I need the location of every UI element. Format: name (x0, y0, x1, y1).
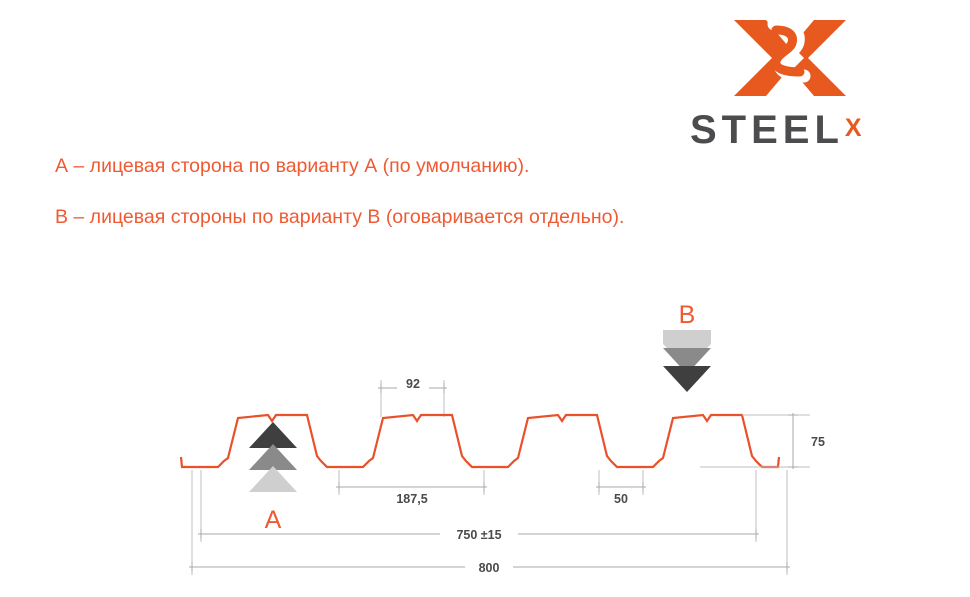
brand-wordmark: STEELX (690, 108, 920, 150)
spec-sheet: STEELX А – лицевая сторона по варианту А… (0, 0, 970, 597)
note-variant-b: В – лицевая стороны по варианту В (огова… (55, 206, 815, 229)
dim-label-75: 75 (811, 435, 825, 449)
marker-label-b: B (679, 301, 696, 329)
profile-drawing: B 92 A 187, (0, 280, 970, 597)
note-variant-a: А – лицевая сторона по варианту А (по ум… (55, 155, 815, 178)
chevron-down-stack-icon (663, 330, 711, 392)
wordmark-x: X (845, 116, 862, 141)
wordmark-steel: STEEL (690, 110, 844, 150)
brand-block: STEELX (690, 16, 920, 146)
dim-label-50: 50 (614, 492, 628, 506)
steelx-x-logo-icon (730, 16, 850, 100)
dim-label-92: 92 (406, 377, 420, 391)
dim-label-1875: 187,5 (396, 492, 427, 506)
dim-label-800: 800 (479, 561, 500, 575)
marker-label-a: A (265, 506, 282, 534)
dim-label-750: 750 ±15 (456, 528, 501, 542)
chevron-up-stack-icon (249, 422, 297, 492)
notes-block: А – лицевая сторона по варианту А (по ум… (55, 155, 815, 229)
